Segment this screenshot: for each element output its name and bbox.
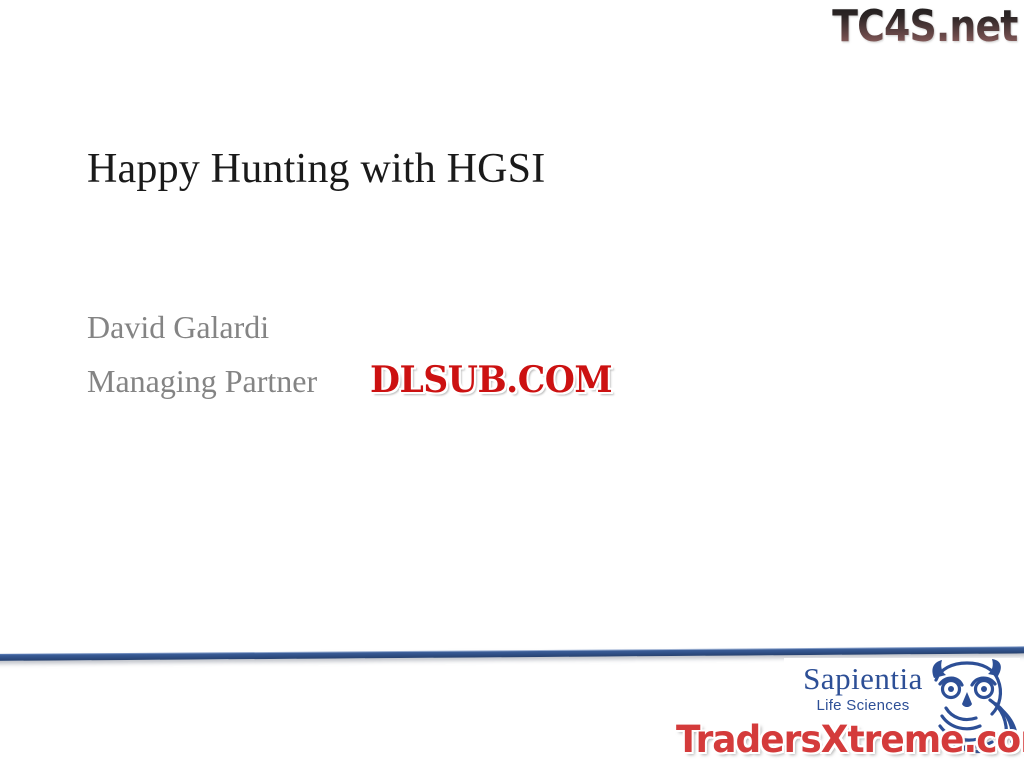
tc4s-watermark: TC4S.net [833, 2, 1018, 52]
subtitle-line-author: David Galardi [87, 300, 887, 354]
presentation-slide: TC4S.net Happy Hunting with HGSI David G… [0, 0, 1024, 768]
sapientia-logo-text: Sapientia Life Sciences [788, 662, 938, 715]
blue-divider-highlight [0, 645, 1024, 655]
sapientia-wordmark: Sapientia [788, 662, 938, 696]
tradersxtreme-watermark: TradersXtreme.com [676, 718, 1024, 762]
slide-title: Happy Hunting with HGSI [87, 143, 947, 195]
dlsub-watermark: DLSUB.COM [370, 360, 612, 400]
sapientia-tagline: Life Sciences [788, 697, 938, 715]
